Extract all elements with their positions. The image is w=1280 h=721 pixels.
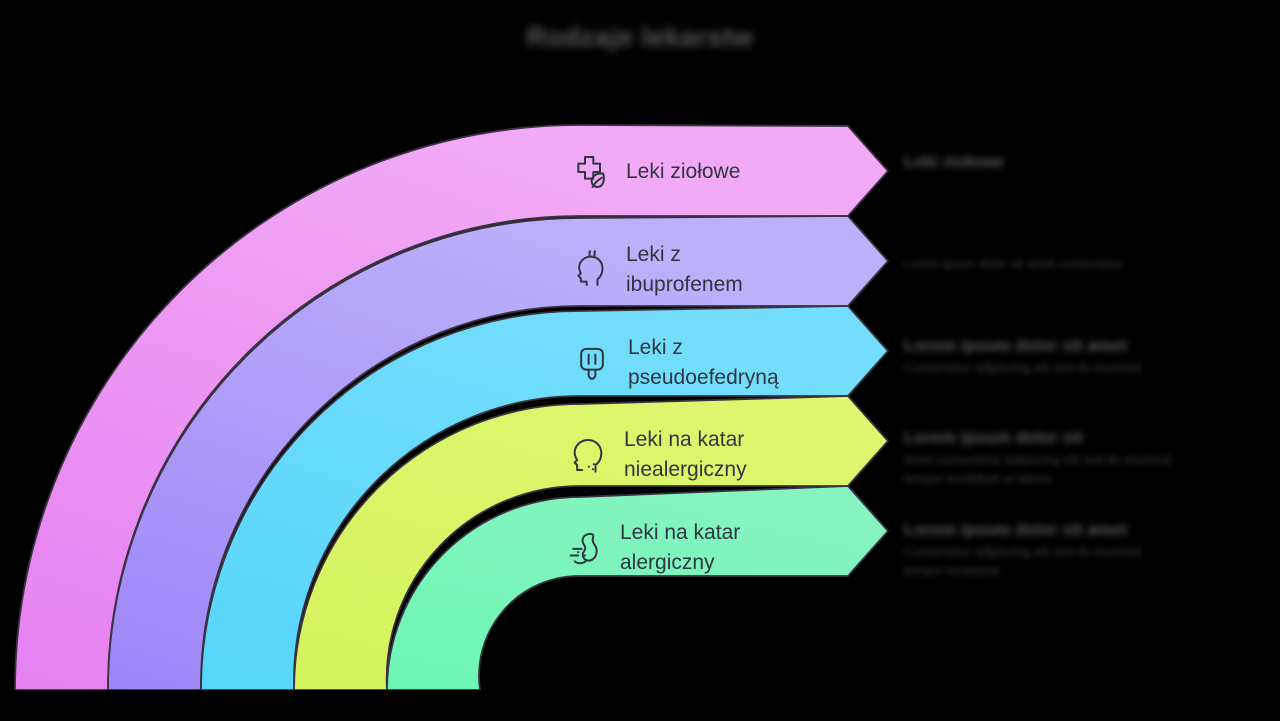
rainbow-arc-chart bbox=[0, 0, 1280, 721]
infographic-canvas: Rodzaje lekarstw bbox=[0, 0, 1280, 721]
arc-band-group bbox=[15, 125, 888, 690]
